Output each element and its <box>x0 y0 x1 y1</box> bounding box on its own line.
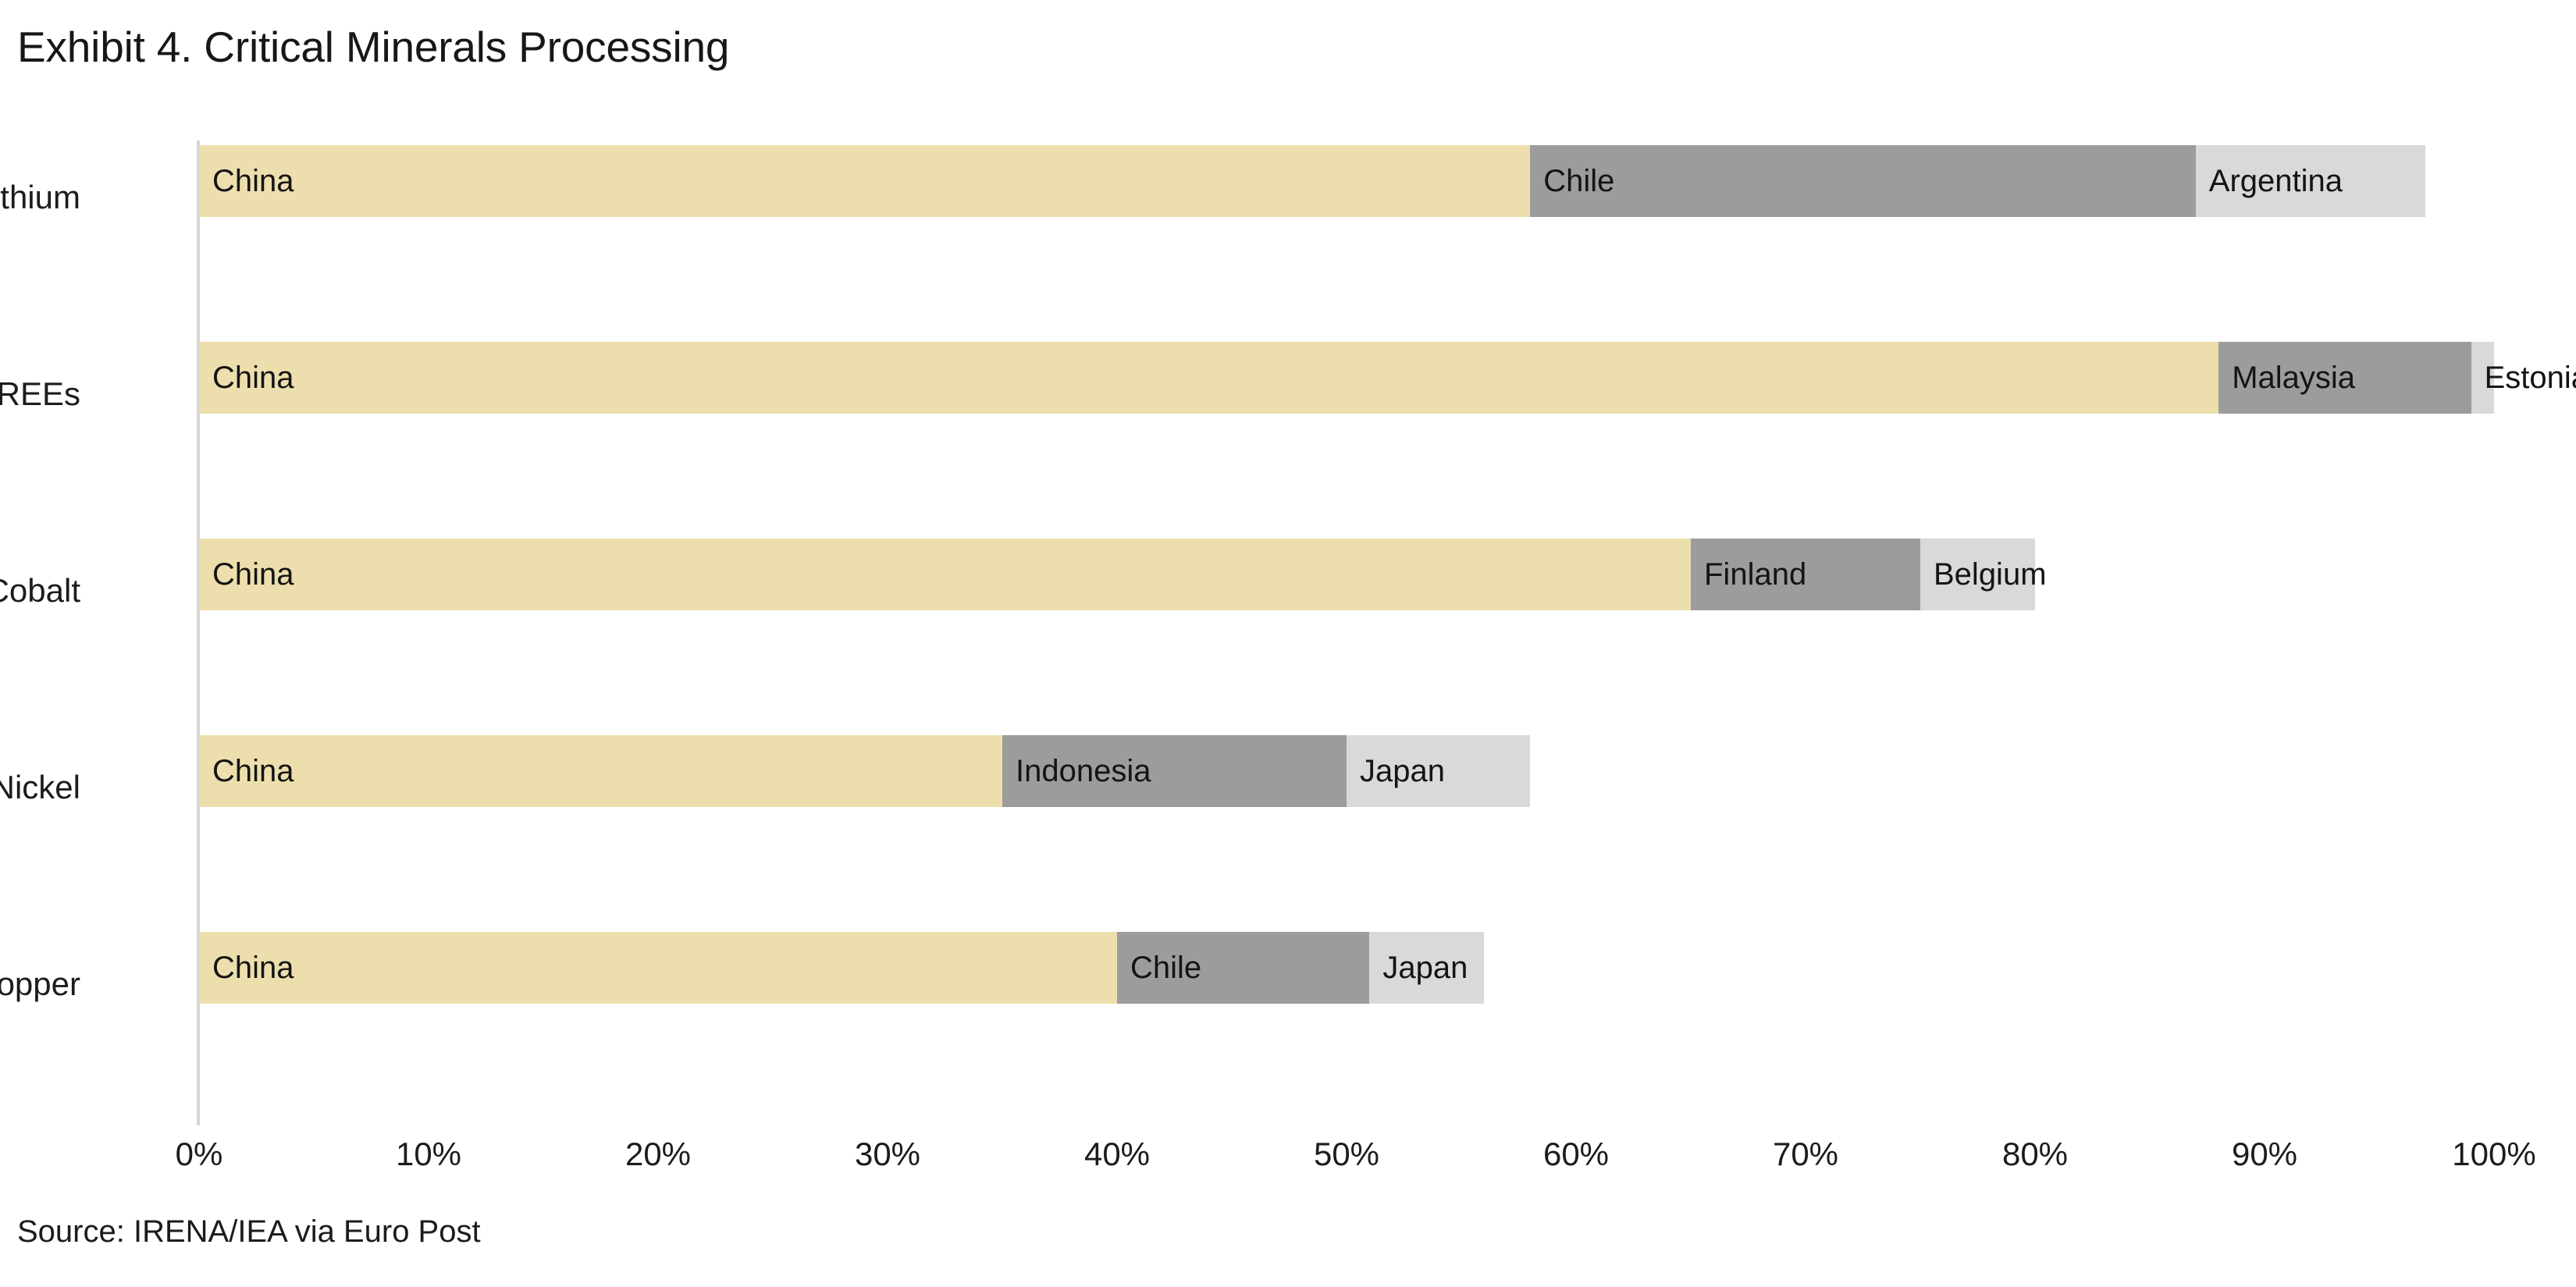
bar-segment-china[interactable]: China <box>199 145 1530 217</box>
bar-segment-finland[interactable]: Finland <box>1691 539 1920 610</box>
bar-segment-label: Indonesia <box>1016 735 1151 807</box>
category-label-rees: REEs <box>0 358 80 430</box>
bar-segment-chile[interactable]: Chile <box>1117 932 1369 1004</box>
bar-segment-label: Japan <box>1382 932 1468 1004</box>
category-label-lithium: Lithium <box>0 162 80 233</box>
x-tick-label: 60% <box>1459 1136 1693 1173</box>
chart-title: Exhibit 4. Critical Minerals Processing <box>17 22 729 72</box>
bar-segment-label: Argentina <box>2209 145 2343 217</box>
x-tick-label: 100% <box>2377 1136 2576 1173</box>
bar-segment-china[interactable]: China <box>199 539 1691 610</box>
x-tick-label: 0% <box>82 1136 316 1173</box>
source-note: Source: IRENA/IEA via Euro Post <box>17 1214 481 1250</box>
bar-row: LithiumChinaChileArgentina <box>199 140 2494 336</box>
x-tick-label: 80% <box>1918 1136 2152 1173</box>
bar-row: REEsChinaMalaysiaEstonia <box>199 337 2494 532</box>
stacked-bar: ChinaChileArgentina <box>199 145 2494 217</box>
bar-segment-label: China <box>212 145 294 217</box>
bar-segment-japan[interactable]: Japan <box>1347 735 1530 807</box>
bar-segment-malaysia[interactable]: Malaysia <box>2218 342 2471 414</box>
stacked-bar: ChinaMalaysiaEstonia <box>199 342 2494 414</box>
bar-segment-label: Estonia <box>2485 342 2576 414</box>
bar-row: NickelChinaIndonesiaJapan <box>199 731 2494 926</box>
category-label-copper: Copper <box>0 948 80 1020</box>
bar-segment-label: Japan <box>1360 735 1445 807</box>
bar-segment-label: China <box>212 539 294 610</box>
category-label-cobalt: Cobalt <box>0 555 80 627</box>
x-tick-label: 90% <box>2147 1136 2382 1173</box>
bar-segment-china[interactable]: China <box>199 932 1117 1004</box>
bar-segment-label: Chile <box>1543 145 1614 217</box>
bar-segment-label: China <box>212 932 294 1004</box>
stacked-bar: ChinaFinlandBelgium <box>199 539 2494 610</box>
stacked-bar: ChinaChileJapan <box>199 932 2494 1004</box>
x-tick-label: 20% <box>541 1136 775 1173</box>
bar-segment-estonia[interactable]: Estonia <box>2471 342 2494 414</box>
x-tick-label: 50% <box>1229 1136 1464 1173</box>
plot-area: LithiumChinaChileArgentinaREEsChinaMalay… <box>199 140 2494 1124</box>
bar-segment-label: Malaysia <box>2232 342 2355 414</box>
bar-segment-label: Belgium <box>1934 539 2047 610</box>
bar-segment-label: Chile <box>1130 932 1201 1004</box>
bar-segment-label: Finland <box>1704 539 1806 610</box>
bar-row: CobaltChinaFinlandBelgium <box>199 534 2494 729</box>
x-tick-label: 10% <box>311 1136 546 1173</box>
bar-segment-belgium[interactable]: Belgium <box>1920 539 2035 610</box>
bar-segment-china[interactable]: China <box>199 735 1002 807</box>
bar-segment-indonesia[interactable]: Indonesia <box>1002 735 1347 807</box>
x-axis: 0%10%20%30%40%50%60%70%80%90%100% <box>199 1136 2494 1190</box>
bar-segment-argentina[interactable]: Argentina <box>2196 145 2425 217</box>
stacked-bar: ChinaIndonesiaJapan <box>199 735 2494 807</box>
bar-segment-label: China <box>212 735 294 807</box>
x-tick-label: 30% <box>770 1136 1005 1173</box>
x-tick-label: 40% <box>1000 1136 1234 1173</box>
x-tick-label: 70% <box>1688 1136 1923 1173</box>
category-label-nickel: Nickel <box>0 752 80 823</box>
bar-segment-label: China <box>212 342 294 414</box>
bar-segment-chile[interactable]: Chile <box>1530 145 2196 217</box>
bar-row: CopperChinaChileJapan <box>199 927 2494 1122</box>
bar-segment-japan[interactable]: Japan <box>1369 932 1484 1004</box>
chart-container: Exhibit 4. Critical Minerals Processing … <box>0 0 2576 1287</box>
bar-segment-china[interactable]: China <box>199 342 2218 414</box>
